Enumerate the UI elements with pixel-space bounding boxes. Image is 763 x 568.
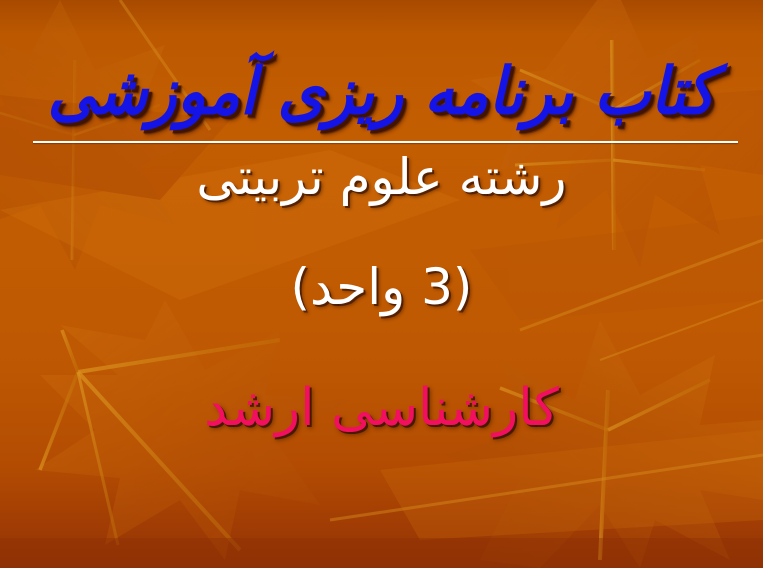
subtitle-degree-level: کارشناسی ارشد [0, 378, 763, 438]
title-divider [33, 141, 738, 143]
slide-content: کتاب برنامه ریزی آموزشی رشته علوم تربیتی… [0, 0, 763, 568]
page-title: کتاب برنامه ریزی آموزشی [0, 54, 763, 130]
presentation-slide: کتاب برنامه ریزی آموزشی رشته علوم تربیتی… [0, 0, 763, 568]
subtitle-credit-count: (3 واحد) [0, 258, 763, 316]
subtitle-field-of-study: رشته علوم تربیتی [0, 148, 763, 206]
